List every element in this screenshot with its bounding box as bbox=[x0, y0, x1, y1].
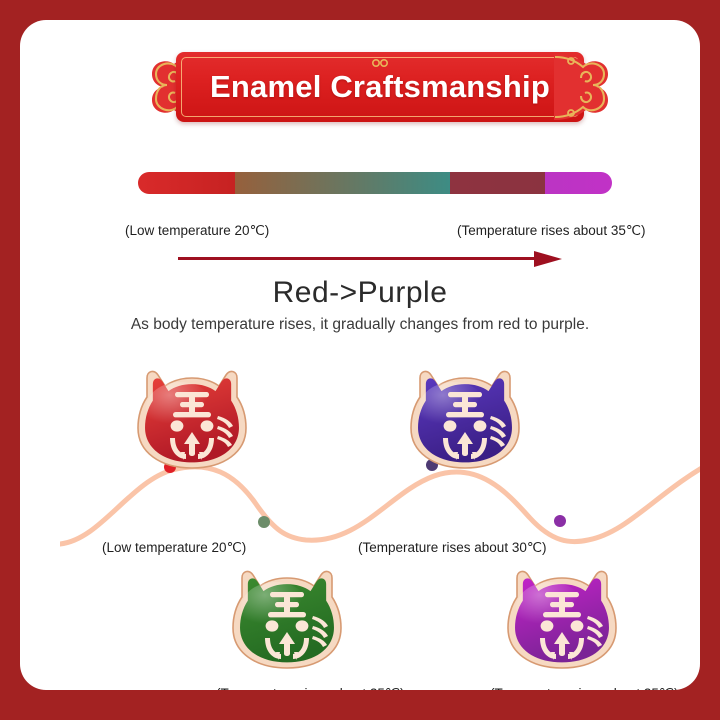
pin-caption-green: (Temperature rises about 25℃) bbox=[216, 686, 405, 690]
tiger-pin-indigo[interactable] bbox=[405, 368, 525, 478]
product-infographic: Enamel Craftsmanship (Low temperature 20… bbox=[0, 0, 720, 720]
wave-caption-right: (Temperature rises about 30℃) bbox=[358, 540, 547, 556]
banner-knot-icon bbox=[369, 54, 391, 63]
tiger-pin-purple[interactable] bbox=[502, 568, 622, 678]
description-text: As body temperature rises, it gradually … bbox=[20, 314, 700, 335]
temperature-gradient-bar bbox=[138, 172, 612, 194]
dot-green bbox=[258, 516, 270, 528]
arrow-head bbox=[534, 251, 562, 267]
gradient-segment-maroon bbox=[450, 172, 545, 194]
gradient-low-label: (Low temperature 20℃) bbox=[125, 223, 269, 239]
banner-plate: Enamel Craftsmanship bbox=[176, 52, 584, 122]
page-title: Enamel Craftsmanship bbox=[176, 69, 584, 105]
pin-caption-purple: (Temperature rises about 35℃) bbox=[490, 686, 679, 690]
white-content-card: Enamel Craftsmanship (Low temperature 20… bbox=[20, 20, 700, 690]
tiger-pin-green[interactable] bbox=[227, 568, 347, 678]
headline-text: Red->Purple bbox=[20, 276, 700, 310]
gradient-high-label: (Temperature rises about 35℃) bbox=[457, 223, 646, 239]
gradient-segment-brown-to-teal bbox=[235, 172, 450, 194]
gradient-segment-red bbox=[138, 172, 235, 194]
wave-caption-left: (Low temperature 20℃) bbox=[102, 540, 246, 556]
arrow-line bbox=[178, 257, 536, 260]
tiger-pin-red[interactable] bbox=[132, 368, 252, 478]
right-arrow-icon bbox=[178, 251, 562, 267]
title-banner: Enamel Craftsmanship bbox=[148, 48, 612, 126]
dot-purple bbox=[554, 515, 566, 527]
gradient-segment-magenta bbox=[545, 172, 612, 194]
chinese-cloud-scroll-icon bbox=[550, 50, 612, 124]
